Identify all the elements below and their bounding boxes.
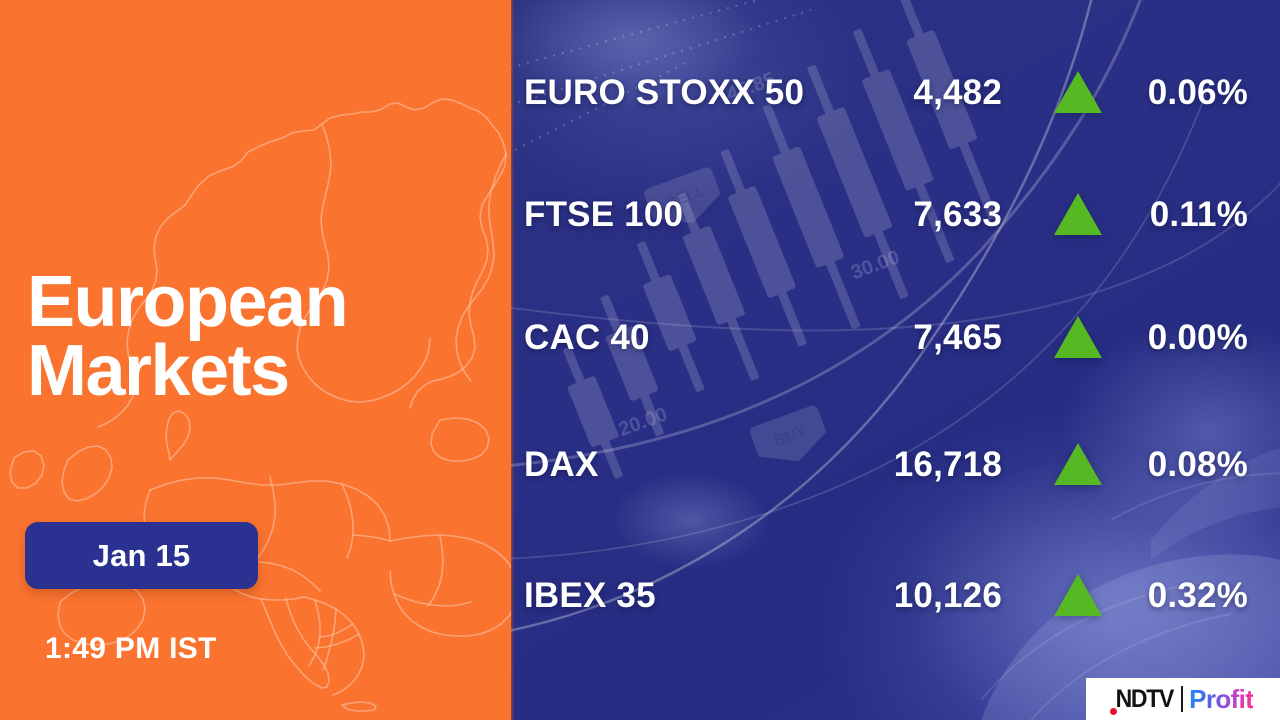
ndtv-profit-logo: NDTV Profit (1086, 678, 1280, 720)
table-row: DAX 16,718 0.08% (511, 432, 1280, 498)
index-value: 4,482 (802, 60, 1002, 126)
table-row: CAC 40 7,465 0.00% (511, 305, 1280, 371)
market-summary-card: European Markets Jan 15 1:49 PM IST (0, 0, 1280, 720)
index-name: CAC 40 (524, 305, 650, 371)
logo-brand-text: NDTV (1115, 685, 1174, 714)
title-line-2: Markets (27, 337, 497, 406)
index-rows: EURO STOXX 50 4,482 0.06% FTSE 100 7,633… (511, 0, 1280, 720)
index-name: IBEX 35 (524, 563, 656, 629)
index-change-percent: 0.11% (1068, 182, 1248, 248)
index-name: EURO STOXX 50 (524, 60, 804, 126)
page-title: European Markets (27, 268, 497, 406)
index-value: 7,465 (802, 305, 1002, 371)
index-change-percent: 0.08% (1068, 432, 1248, 498)
logo-separator (1181, 686, 1183, 712)
index-name: FTSE 100 (524, 182, 683, 248)
logo-red-dot-icon (1110, 708, 1117, 715)
timestamp-label: 1:49 PM IST (45, 632, 217, 666)
table-row: EURO STOXX 50 4,482 0.06% (511, 60, 1280, 126)
index-name: DAX (524, 432, 599, 498)
table-row: FTSE 100 7,633 0.11% (511, 182, 1280, 248)
index-change-percent: 0.32% (1068, 563, 1248, 629)
table-row: IBEX 35 10,126 0.32% (511, 563, 1280, 629)
logo-product-text: Profit (1189, 684, 1253, 715)
date-badge-label: Jan 15 (93, 538, 191, 574)
index-change-percent: 0.06% (1068, 60, 1248, 126)
index-value: 16,718 (802, 432, 1002, 498)
index-value: 10,126 (802, 563, 1002, 629)
index-value: 7,633 (802, 182, 1002, 248)
market-data-panel: 45.85 30.00 20.00 SELL BUY (511, 0, 1280, 720)
title-line-1: European (27, 268, 497, 337)
left-title-panel: European Markets Jan 15 1:49 PM IST (0, 0, 511, 720)
date-badge: Jan 15 (25, 522, 258, 589)
index-change-percent: 0.00% (1068, 305, 1248, 371)
